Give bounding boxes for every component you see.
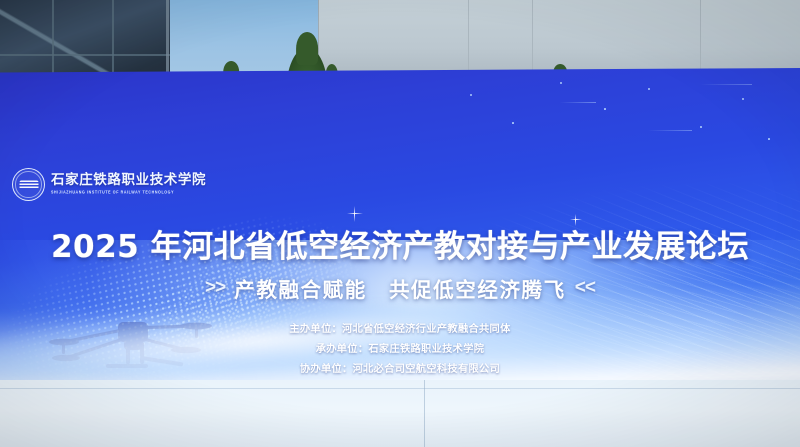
institution-name-cn: 石家庄铁路职业技术学院 xyxy=(51,174,206,188)
particle-dot-icon xyxy=(604,108,606,110)
organizer-operator: 承办单位：石家庄铁路职业技术学院 xyxy=(0,345,800,355)
screenshot-root: 石家庄铁路职业技术学院 SHIJIAZHUANG INSTITUTE OF RA… xyxy=(0,0,800,447)
university-seal-icon xyxy=(12,168,45,201)
institution-name-block: 石家庄铁路职业技术学院 SHIJIAZHUANG INSTITUTE OF RA… xyxy=(51,174,206,195)
wall-joint-line xyxy=(0,388,800,389)
institution-logo: 石家庄铁路职业技术学院 SHIJIAZHUANG INSTITUTE OF RA… xyxy=(12,168,206,201)
particle-streak-icon xyxy=(560,102,596,103)
particle-dot-icon xyxy=(742,98,744,100)
particle-dot-icon xyxy=(700,126,702,128)
banner-subtitle: 产教融合赋能 共促低空经济腾飞 xyxy=(234,273,566,303)
particle-streak-icon xyxy=(700,84,752,85)
chevron-right-icon: >> xyxy=(205,277,225,299)
organizer-list: 主办单位：河北省低空经济行业产教融合共同体 承办单位：石家庄铁路职业技术学院 协… xyxy=(0,325,800,386)
particle-dot-icon xyxy=(470,94,472,96)
particle-streak-icon xyxy=(648,130,692,131)
chevron-left-icon: << xyxy=(575,277,595,299)
particle-dot-icon xyxy=(648,88,650,90)
institution-name-en: SHIJIAZHUANG INSTITUTE OF RAILWAY TECHNO… xyxy=(51,191,206,195)
organizer-support: 协办单位：河北必合司空航空科技有限公司 xyxy=(0,365,800,375)
wall-seam xyxy=(424,380,425,447)
event-banner: 石家庄铁路职业技术学院 SHIJIAZHUANG INSTITUTE OF RA… xyxy=(0,68,800,386)
glass-transom xyxy=(0,54,170,56)
particle-dot-icon xyxy=(768,138,770,140)
organizer-host: 主办单位：河北省低空经济行业产教融合共同体 xyxy=(0,325,800,335)
particle-dot-icon xyxy=(512,122,514,124)
particle-dot-icon xyxy=(560,82,562,84)
banner-subtitle-row: >> 产教融合赋能 共促低空经济腾飞 << xyxy=(0,273,800,303)
lower-wall xyxy=(0,380,800,447)
banner-title: 2025 年河北省低空经济产教对接与产业发展论坛 xyxy=(0,221,800,266)
